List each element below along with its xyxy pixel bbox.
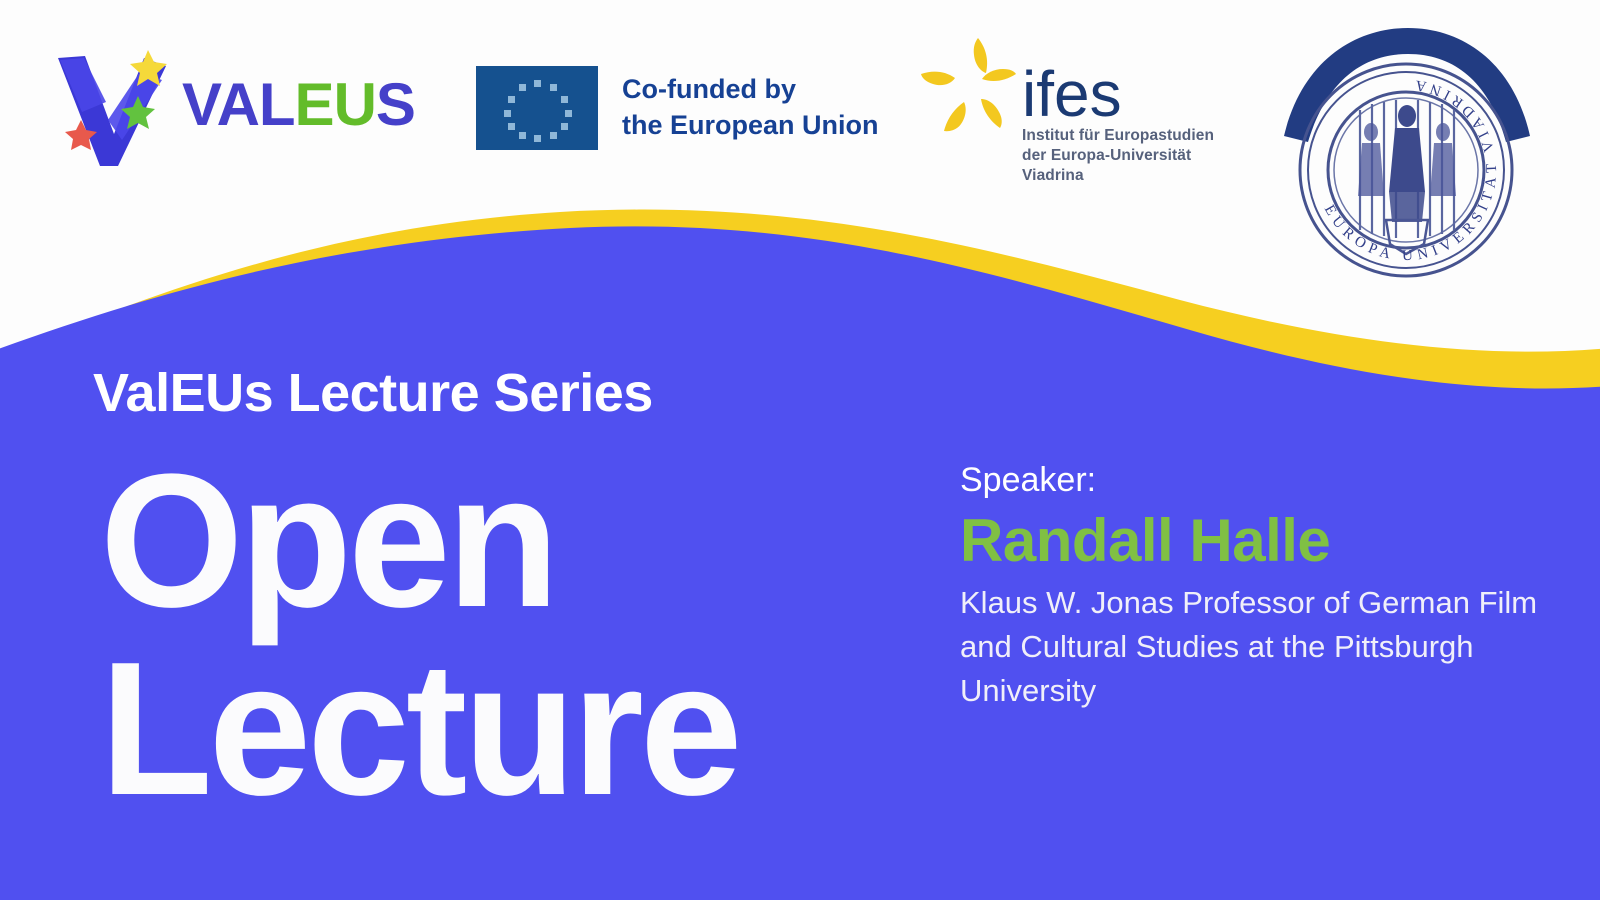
speaker-block: Speaker: Randall Halle Klaus W. Jonas Pr… (960, 462, 1560, 713)
speaker-affiliation: Klaus W. Jonas Professor of German Film … (960, 581, 1540, 713)
headline-line-lecture: Lecture (100, 640, 739, 819)
series-title: ValEUs Lecture Series (93, 362, 653, 424)
headline-line-open: Open (100, 452, 555, 631)
poster-content: ValEUs Lecture Series Open Lecture Speak… (0, 0, 1600, 900)
speaker-name: Randall Halle (960, 509, 1560, 572)
lecture-poster: VALEUS (0, 0, 1600, 900)
speaker-label: Speaker: (960, 462, 1560, 499)
